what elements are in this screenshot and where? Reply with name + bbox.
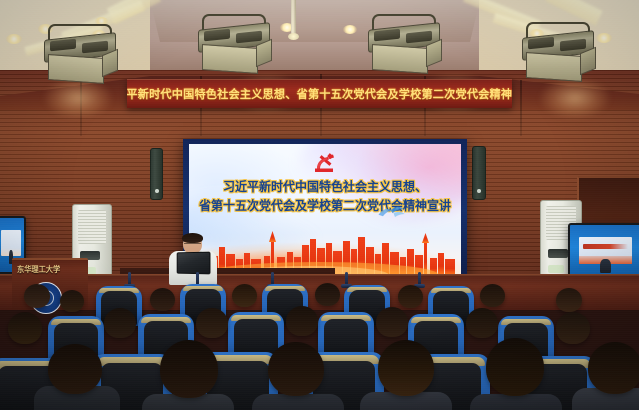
stage-light-barndoor — [372, 44, 428, 74]
auxiliary-display-slide-text — [583, 244, 628, 249]
hanging-microphone — [291, 0, 296, 34]
stage-light-flap — [580, 47, 596, 75]
audience-head — [378, 340, 434, 396]
projection-screen-frame: 习近平新时代中国特色社会主义思想、 省第十五次党代会及学校第二次党代会精神宣讲 — [183, 139, 467, 280]
lecture-hall-photo: 习近平新时代中国特色社会主义思想、省第十五次党代会及学校第二次党代会精神宣讲 — [0, 0, 639, 410]
audience-head — [150, 288, 175, 311]
stage-light-barndoor — [48, 54, 104, 84]
audience-head — [486, 338, 544, 396]
stage-light-barndoor — [526, 52, 582, 82]
audience-head — [315, 283, 340, 306]
stage-light-flap — [256, 39, 272, 67]
hanging-microphone-capsule — [288, 33, 299, 40]
audience-head — [556, 312, 590, 344]
audience-head — [8, 312, 42, 344]
presenter-laptop[interactable] — [176, 252, 210, 276]
audience-head — [398, 285, 423, 308]
audience-head — [556, 288, 582, 312]
wall-panel-seam — [520, 80, 522, 136]
wall-light-pool — [540, 78, 610, 118]
audience-shoulders — [252, 394, 344, 410]
event-banner: 习近平新时代中国特色社会主义思想、省第十五次党代会及学校第二次党代会精神宣讲 — [127, 79, 512, 108]
presenter-hair — [182, 233, 203, 243]
wall-speaker — [150, 148, 163, 200]
auxiliary-display-screen — [570, 225, 639, 281]
stage-light-barndoor — [202, 44, 258, 74]
air-conditioner-badge — [548, 265, 564, 273]
lectern-name-plate: 东华理工大学 — [17, 264, 76, 275]
slide-title-line-1: 习近平新时代中国特色社会主义思想、 — [194, 177, 455, 196]
wall-speaker-led — [477, 189, 481, 193]
air-conditioner-display[interactable] — [548, 249, 568, 258]
audience-head — [480, 284, 505, 307]
audience-head — [24, 284, 50, 308]
stage-light-fixture — [368, 14, 446, 76]
presenter-glasses — [184, 243, 201, 247]
audience-head — [268, 342, 324, 396]
projection-screen: 习近平新时代中国特色社会主义思想、 省第十五次党代会及学校第二次党代会精神宣讲 — [189, 144, 461, 275]
audience-head — [160, 340, 218, 398]
auxiliary-display-figure — [600, 259, 611, 274]
air-conditioner-grill — [78, 210, 106, 244]
audience-head — [60, 290, 84, 312]
seated-audience — [0, 282, 639, 410]
audience-shoulders — [470, 394, 562, 410]
slide-title-line-2: 省第十五次党代会及学校第二次党代会精神宣讲 — [194, 196, 455, 215]
stage-light-fixture — [522, 22, 600, 84]
stage-light-fixture — [44, 24, 122, 86]
audience-head — [232, 284, 257, 307]
hammer-and-sickle-party-emblem — [308, 152, 342, 176]
audience-head — [376, 307, 408, 337]
presenter-laptop-screen — [177, 252, 211, 275]
audience-head — [466, 308, 498, 338]
audience-head — [588, 342, 639, 394]
audience-head — [286, 306, 318, 336]
stage-light-fixture — [198, 14, 276, 76]
audience-head — [104, 308, 136, 338]
event-banner-text: 习近平新时代中国特色社会主义思想、省第十五次党代会及学校第二次党代会精神宣讲 — [127, 86, 512, 102]
stage-light-flap — [102, 49, 118, 77]
stage-light-flap — [426, 39, 442, 67]
slide-title-block: 习近平新时代中国特色社会主义思想、 省第十五次党代会及学校第二次党代会精神宣讲 — [189, 177, 461, 215]
recessed-downlight — [343, 25, 357, 34]
wall-speaker-led — [155, 189, 159, 193]
wall-speaker — [472, 146, 486, 200]
recessed-downlight — [6, 34, 22, 44]
audience-head — [196, 308, 228, 338]
audience-head — [48, 344, 102, 394]
